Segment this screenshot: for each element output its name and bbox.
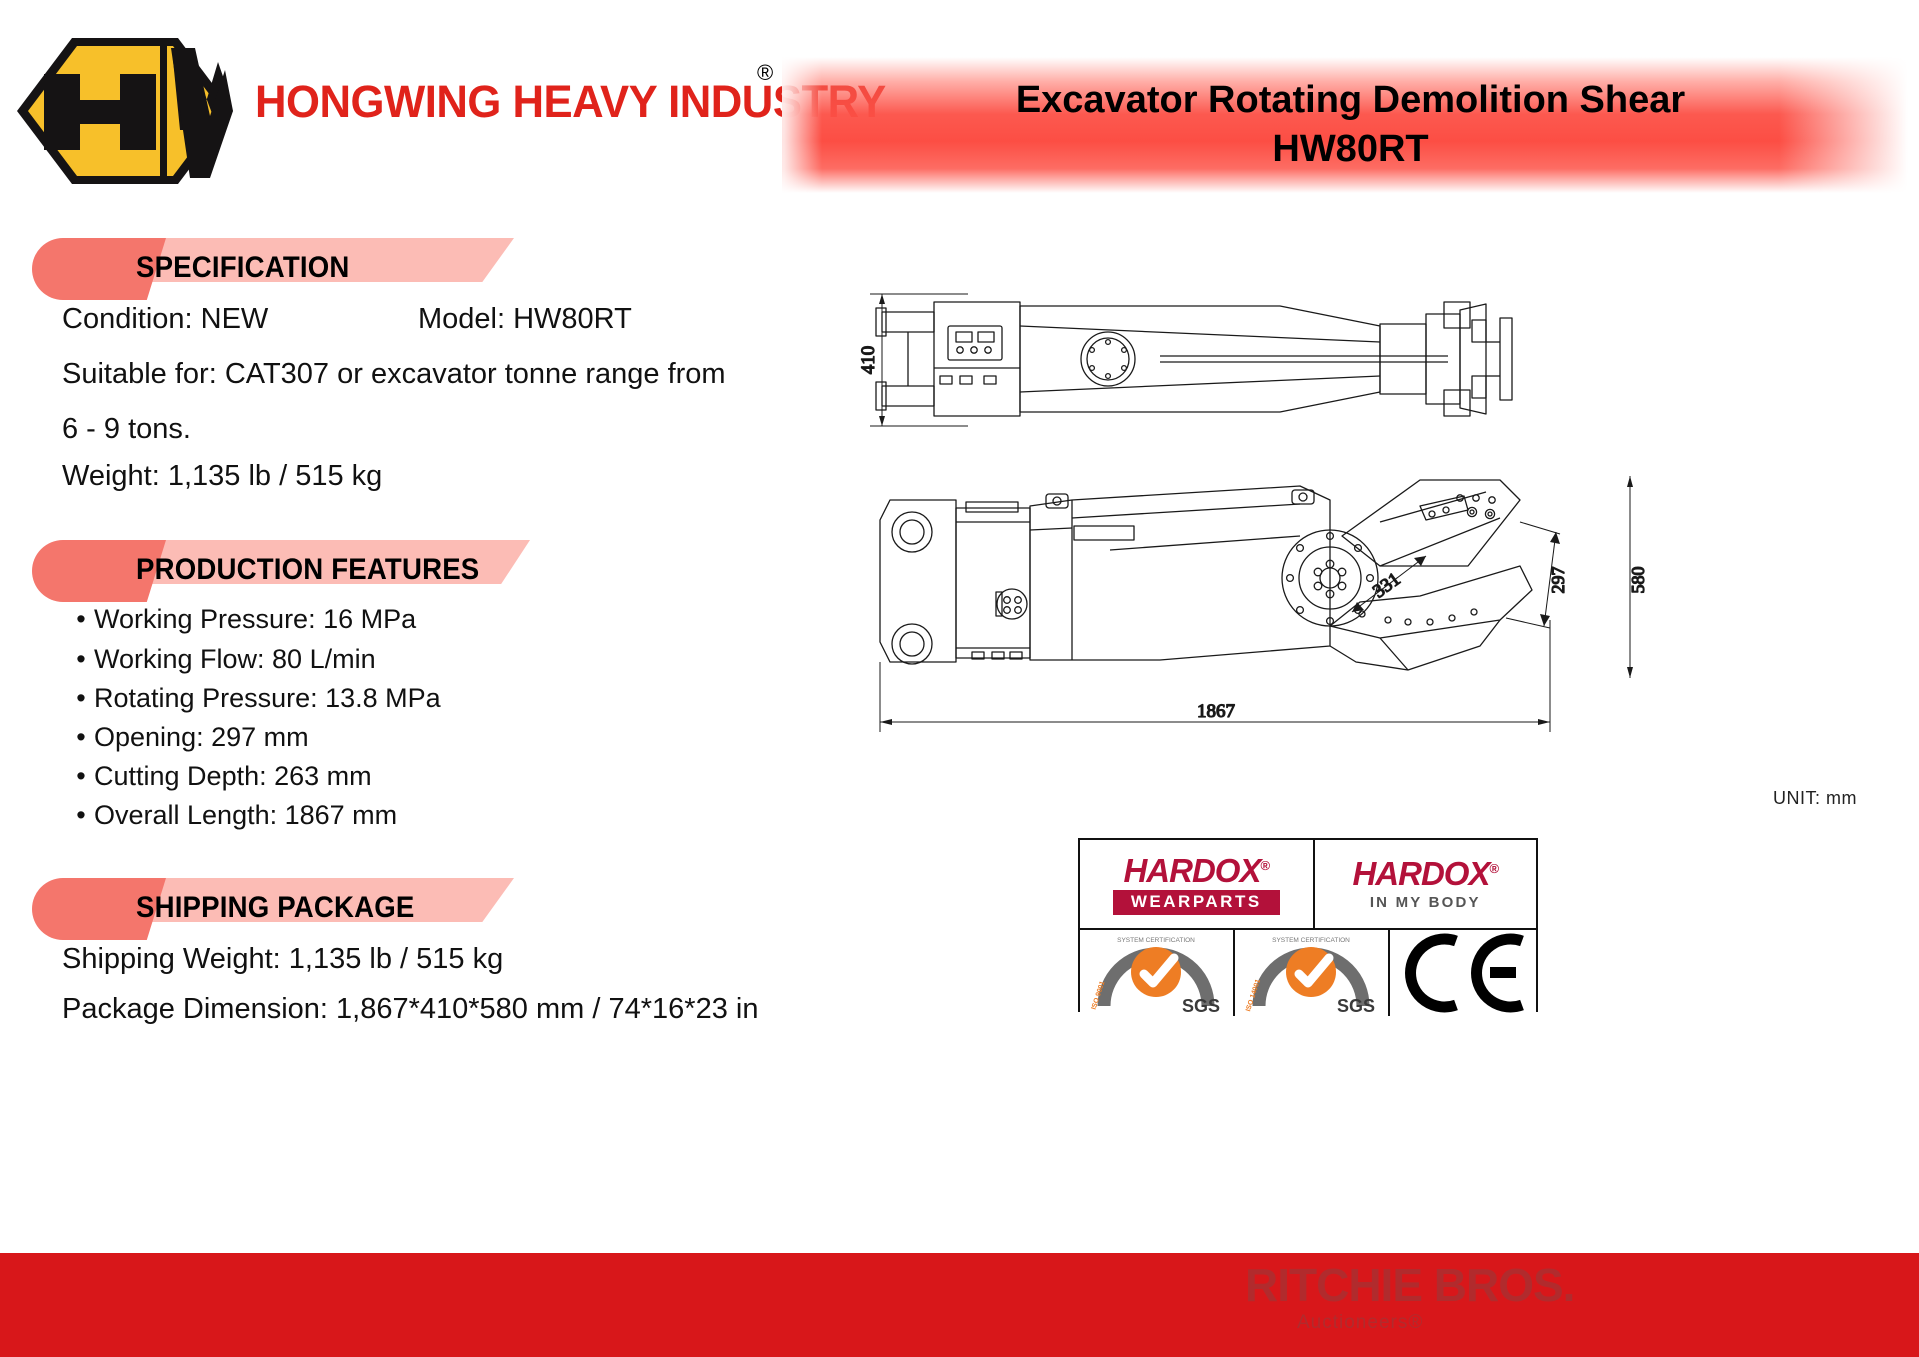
hardox-text: HARDOX [1123,852,1260,889]
bullet-icon: • [68,644,94,675]
dimension-410: 410 [860,346,879,375]
feature-text: Opening: 297 mm [94,722,309,752]
spec-model: Model: HW80RT [418,303,632,336]
feature-text: Working Pressure: 16 MPa [94,604,416,634]
spec-weight: Weight: 1,135 lb / 515 kg [62,460,382,493]
feature-list-item: •Rotating Pressure: 13.8 MPa [68,683,441,714]
product-model-line: HW80RT [1272,125,1428,174]
product-title-banner: Excavator Rotating Demolition Shear HW80… [782,57,1919,193]
spec-suitable-line2: 6 - 9 tons. [62,413,191,446]
package-dimension: Package Dimension: 1,867*410*580 mm / 74… [62,993,758,1026]
section-header-specification: SPECIFICATION [32,238,482,300]
hardox-body-wordmark: HARDOX® [1352,857,1498,890]
section-title-specification: SPECIFICATION [136,251,349,285]
bullet-icon: • [68,722,94,753]
feature-list-item: •Cutting Depth: 263 mm [68,761,372,792]
registered-icon: ® [1260,858,1269,873]
certification-row-top: HARDOX® WEARPARTS HARDOX® IN MY BODY [1080,840,1536,928]
section-header-shipping-package: SHIPPING PACKAGE [32,878,482,940]
technical-drawing: 410 [860,280,1900,800]
section-title-shipping-package: SHIPPING PACKAGE [136,891,414,925]
sgs-mark: SGS [1182,996,1220,1016]
dimension-297: 297 [1548,567,1568,594]
company-logo [14,32,236,190]
unit-note: UNIT: mm [1773,788,1857,809]
page-header: HONGWING HEAVY INDUSTRY ® Excavator Rota… [0,0,1919,215]
section-title-production-features: PRODUCTION FEATURES [136,553,479,587]
ce-mark-logo [1390,930,1537,1016]
registered-icon: ® [1489,861,1498,876]
feature-list-item: •Opening: 297 mm [68,722,309,753]
sgs-iso14001-logo: SGS SYSTEM CERTIFICATION ISO 14001 [1235,930,1390,1016]
sgs-mark: SGS [1337,996,1375,1016]
sgs-arc-top: SYSTEM CERTIFICATION [1117,937,1195,944]
bullet-icon: • [68,604,94,635]
dimension-1867: 1867 [1197,701,1235,722]
feature-list-item: •Overall Length: 1867 mm [68,800,397,831]
registered-trademark-icon: ® [757,60,773,86]
feature-text: Cutting Depth: 263 mm [94,761,372,791]
hardox-in-my-body-logo: HARDOX® IN MY BODY [1315,840,1536,928]
sgs-iso9001-logo: SGS SYSTEM CERTIFICATION ISO 9001 [1080,930,1235,1016]
spec-suitable-line1: Suitable for: CAT307 or excavator tonne … [62,358,726,391]
feature-text: Rotating Pressure: 13.8 MPa [94,683,441,713]
dimension-580: 580 [1628,567,1648,594]
bullet-icon: • [68,683,94,714]
feature-list-item: •Working Pressure: 16 MPa [68,604,416,635]
footer-bar [0,1253,1919,1357]
sgs-arc-top: SYSTEM CERTIFICATION [1272,937,1350,944]
product-title-line1: Excavator Rotating Demolition Shear [1016,76,1685,125]
hardox-body-subtitle: IN MY BODY [1370,894,1481,911]
feature-text: Overall Length: 1867 mm [94,800,397,830]
hardox-text: HARDOX [1352,855,1489,892]
hardox-wearparts-logo: HARDOX® WEARPARTS [1080,840,1315,928]
spec-condition: Condition: NEW [62,303,268,336]
hardox-wearparts-wordmark: HARDOX® [1123,854,1269,887]
bullet-icon: • [68,800,94,831]
bullet-icon: • [68,761,94,792]
certification-row-bottom: SGS SYSTEM CERTIFICATION ISO 9001 SGS SY… [1080,928,1536,1016]
feature-list-item: •Working Flow: 80 L/min [68,644,376,675]
section-header-production-features: PRODUCTION FEATURES [32,540,492,602]
hardox-wearparts-subtitle: WEARPARTS [1113,890,1280,915]
shipping-weight: Shipping Weight: 1,135 lb / 515 kg [62,943,503,976]
certification-logos: HARDOX® WEARPARTS HARDOX® IN MY BODY SGS… [1078,838,1538,1012]
feature-text: Working Flow: 80 L/min [94,644,376,674]
